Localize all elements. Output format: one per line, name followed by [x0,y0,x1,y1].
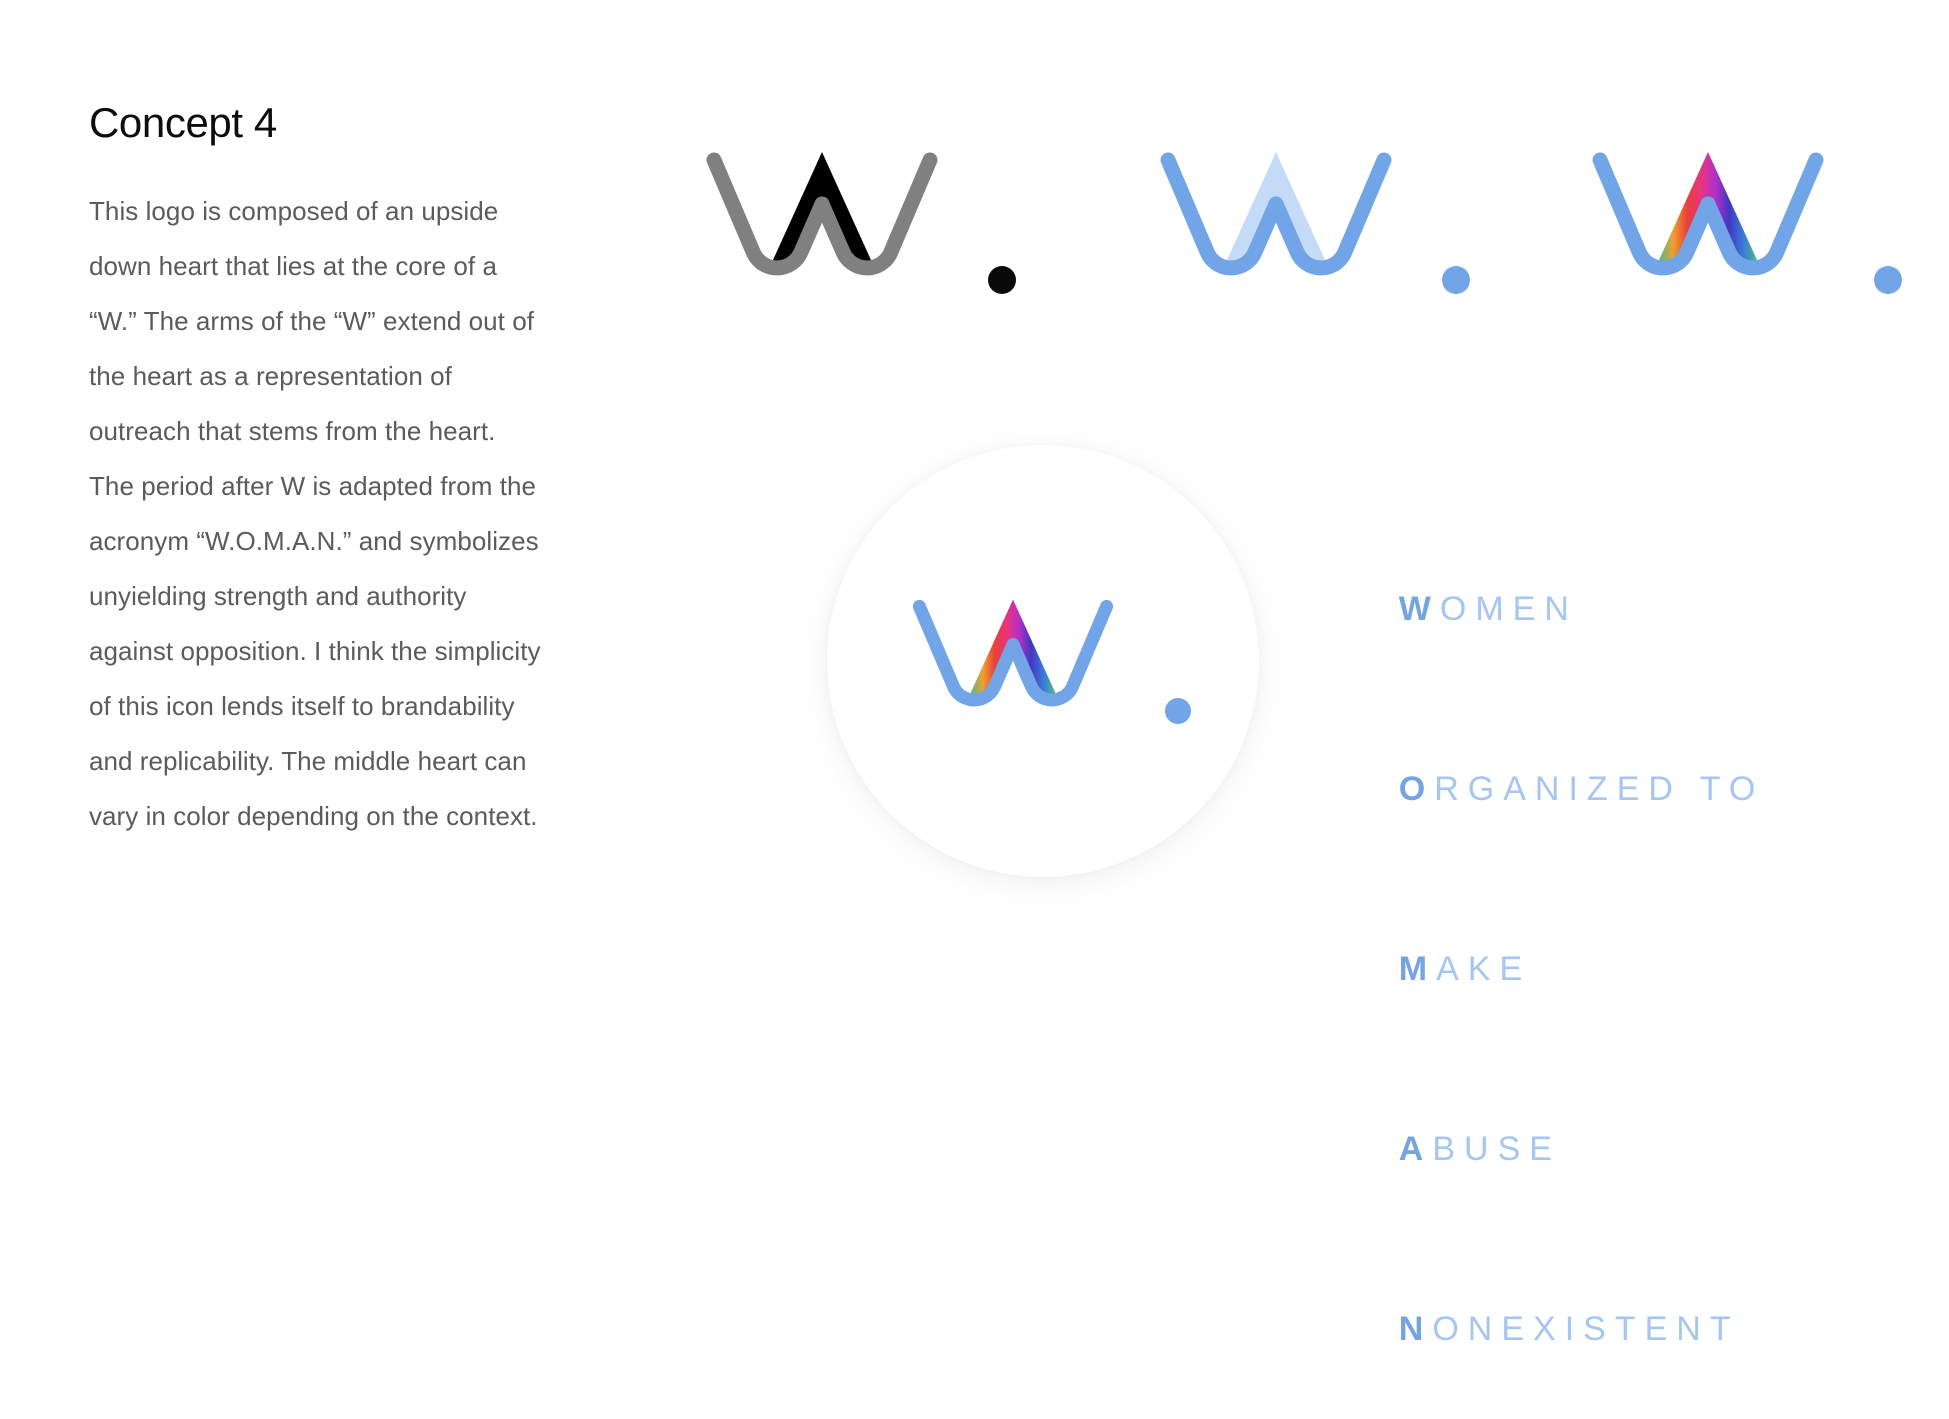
acronym-lead-o: O [1399,770,1434,808]
acronym-lead-w: W [1399,590,1440,628]
acronym-rest-make: AKE [1436,950,1531,988]
acronym-line-make: MAKE [1325,879,1764,1059]
circle-badge [827,445,1259,877]
acronym-rest-nonexistent: ONEXISTENT [1432,1310,1739,1348]
acronym-rest-organized-to: RGANIZED TO [1434,770,1764,808]
acronym-line-organized-to: ORGANIZED TO [1325,699,1764,879]
circle-badge-block[interactable] [827,445,1259,877]
logo-variant-row [672,138,1902,308]
w-logo-mark-blue-light [1126,138,1426,308]
acronym-line-abuse: ABUSE [1325,1059,1764,1239]
period-dot-blue-1 [1442,266,1470,294]
w-logo-mark-badge [883,586,1143,736]
acronym-rest-abuse: BUSE [1432,1130,1561,1168]
logo-variant-blue-rainbow[interactable] [1558,138,1902,308]
period-dot-black [988,266,1016,294]
concept-text-column: Concept 4 This logo is composed of an up… [89,100,559,844]
badge-lockup [883,586,1191,736]
acronym-lead-a: A [1399,1130,1433,1168]
acronym-line-women: WOMEN [1325,519,1764,699]
w-logo-mark-grey-black [672,138,972,308]
acronym-lockup: WOMEN ORGANIZED TO MAKE ABUSE NONEXISTEN… [1325,519,1764,1419]
acronym-rest-women: OMEN [1440,590,1578,628]
logo-variant-grey-black[interactable] [672,138,1016,308]
acronym-lead-n: N [1399,1310,1433,1348]
page-title: Concept 4 [89,100,559,146]
period-dot-blue-2 [1874,266,1902,294]
acronym-lead-m: M [1399,950,1436,988]
period-dot-badge [1165,698,1191,724]
logo-variant-blue-light[interactable] [1126,138,1470,308]
acronym-line-nonexistent: NONEXISTENT [1325,1239,1764,1419]
w-logo-mark-blue-rainbow [1558,138,1858,308]
concept-description: This logo is composed of an upside down … [89,184,544,844]
